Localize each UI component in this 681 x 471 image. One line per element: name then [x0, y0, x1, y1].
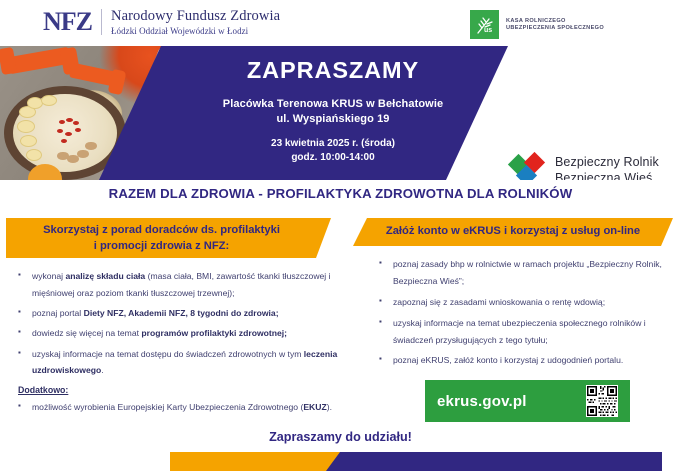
hero-date: 23 kwietnia 2025 r. (środa) — [168, 138, 498, 149]
left-column: Skorzystaj z porad doradców ds. profilak… — [6, 218, 346, 419]
logo-divider — [101, 9, 102, 35]
list-item: poznaj eKRUS, załóż konto i korzystaj z … — [369, 352, 681, 369]
nfz-title: Narodowy Fundusz Zdrowia — [111, 8, 280, 25]
right-ribbon-line-1: Załóż konto w eKRUS i korzystaj z usług … — [386, 224, 640, 240]
list-item: wykonaj analizę składu ciała (masa ciała… — [8, 268, 346, 302]
footer-stripe-orange — [170, 452, 340, 471]
left-ribbon-line-2: i promocji zdrowia z NFZ: — [94, 238, 230, 254]
hero-street: ul. Wyspiańskiego 19 — [168, 113, 498, 125]
footer-stripe-navy — [326, 452, 662, 471]
list-item: możliwość wyrobienia Europejskiej Karty … — [8, 399, 346, 416]
footer-cta: Zapraszamy do udziału! — [0, 430, 681, 444]
list-item: dowiedz się więcej na temat programów pr… — [8, 325, 346, 342]
nfz-subtitle: Łódzki Oddział Wojewódzki w Łodzi — [111, 26, 280, 36]
hero-text-block: ZAPRASZAMY Placówka Terenowa KRUS w Bełc… — [168, 46, 498, 180]
krus-logo: us KASA ROLNICZEGO UBEZPIECZENIA SPOŁECZ… — [470, 10, 604, 39]
qr-code-icon[interactable] — [586, 385, 618, 417]
krus-logo-text: KASA ROLNICZEGO UBEZPIECZENIA SPOŁECZNEG… — [506, 18, 604, 32]
list-item: zapoznaj się z zasadami wnioskowania o r… — [369, 294, 681, 311]
nfz-logo: NFZ Narodowy Fundusz Zdrowia Łódzki Oddz… — [43, 8, 280, 36]
hero-banner: ZAPRASZAMY Placówka Terenowa KRUS w Bełc… — [0, 46, 681, 180]
krus-logo-mark: us — [470, 10, 499, 39]
logo-bar: NFZ Narodowy Fundusz Zdrowia Łódzki Oddz… — [0, 0, 681, 46]
hero-time: godz. 10:00-14:00 — [168, 152, 498, 163]
left-ribbon-header: Skorzystaj z porad doradców ds. profilak… — [6, 218, 331, 258]
ekrus-cta-box[interactable]: ekrus.gov.pl — [425, 380, 630, 422]
poster: NFZ Narodowy Fundusz Zdrowia Łódzki Oddz… — [0, 0, 681, 471]
right-column: Załóż konto w eKRUS i korzystaj z usług … — [353, 218, 681, 373]
dumbbell-weight — [0, 47, 17, 75]
ekrus-url-label: ekrus.gov.pl — [437, 393, 527, 410]
partner-line-1: Bezpieczny Rolnik — [555, 154, 659, 170]
svg-text:us: us — [484, 27, 492, 34]
bezpieczny-rolnik-text: Bezpieczny Rolnik Bezpieczna Wieś — [555, 154, 659, 180]
right-bullet-list: poznaj zasady bhp w rolnictwie w ramach … — [369, 256, 681, 370]
right-bullets-block: poznaj zasady bhp w rolnictwie w ramach … — [369, 256, 681, 370]
oatmeal — [13, 94, 117, 172]
left-bullets-block: wykonaj analizę składu ciała (masa ciała… — [8, 268, 346, 416]
wheat-ear-icon: us — [473, 13, 497, 37]
list-item: poznaj portal Diety NFZ, Akademii NFZ, 8… — [8, 305, 346, 322]
footer-stripe — [0, 452, 681, 471]
bezpieczny-rolnik-logo: Bezpieczny Rolnik Bezpieczna Wieś — [511, 153, 659, 180]
diamonds-icon — [511, 153, 549, 180]
nfz-logo-text: Narodowy Fundusz Zdrowia Łódzki Oddział … — [111, 8, 280, 36]
list-item: uzyskaj informacje na temat dostępu do ś… — [8, 346, 346, 380]
list-item: poznaj zasady bhp w rolnictwie w ramach … — [369, 256, 681, 290]
left-extra-bullet-list: możliwość wyrobienia Europejskiej Karty … — [8, 399, 346, 416]
list-item: uzyskaj informacje na temat ubezpieczeni… — [369, 315, 681, 349]
left-ribbon-line-1: Skorzystaj z porad doradców ds. profilak… — [43, 222, 280, 238]
right-ribbon-header: Załóż konto w eKRUS i korzystaj z usług … — [353, 218, 673, 246]
krus-line-2: UBEZPIECZENIA SPOŁECZNEGO — [506, 25, 604, 32]
section-title: RAZEM DLA ZDROWIA - PROFILAKTYKA ZDROWOT… — [0, 186, 681, 201]
hero-heading: ZAPRASZAMY — [168, 57, 498, 84]
partner-line-2: Bezpieczna Wieś — [555, 170, 659, 180]
left-bullet-list: wykonaj analizę składu ciała (masa ciała… — [8, 268, 346, 379]
nfz-logo-mark: NFZ — [43, 9, 94, 35]
extra-label: Dodatkowo: — [18, 385, 346, 395]
hero-place: Placówka Terenowa KRUS w Bełchatowie — [168, 98, 498, 110]
krus-line-1: KASA ROLNICZEGO — [506, 18, 604, 25]
